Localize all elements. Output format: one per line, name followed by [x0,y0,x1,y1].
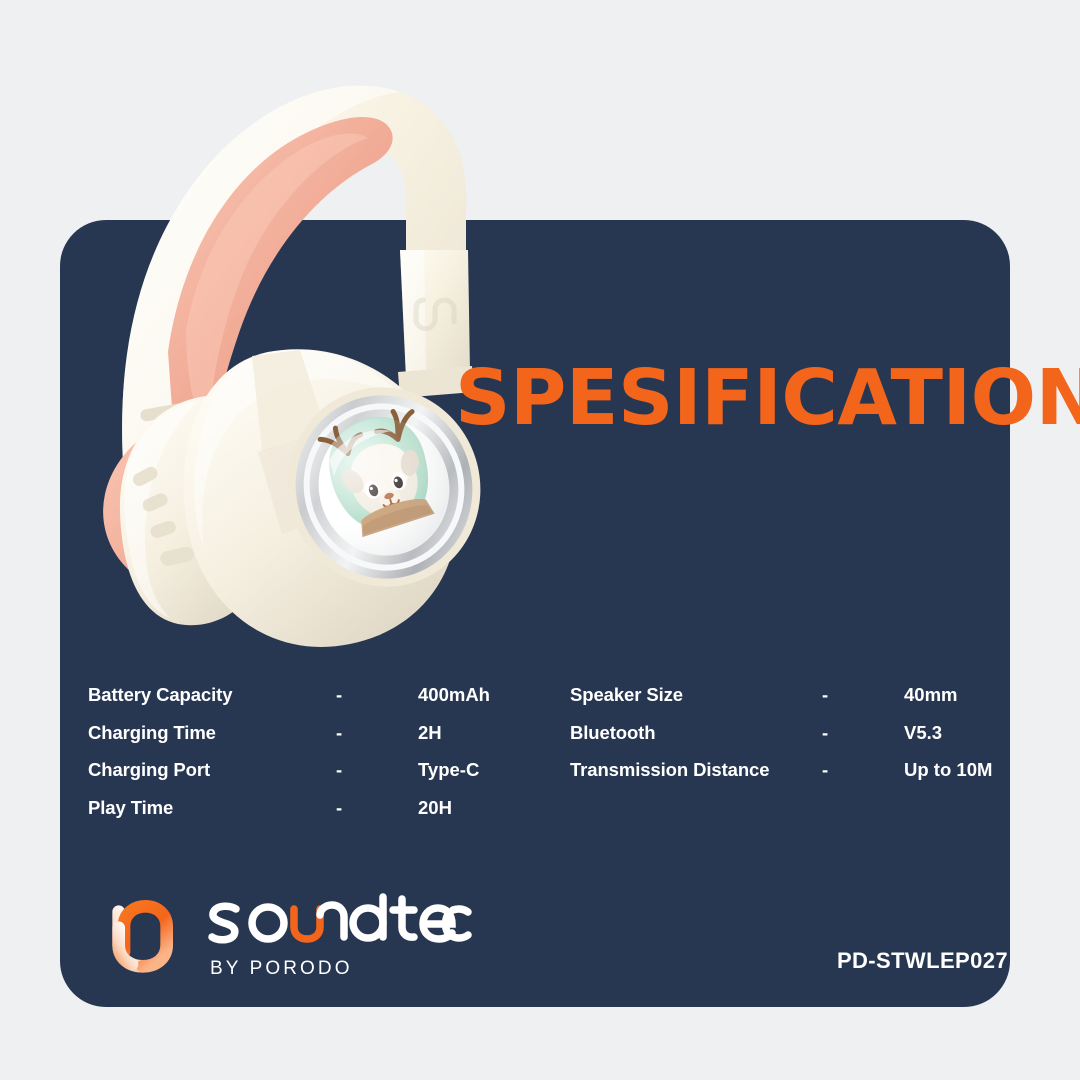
spec-label: Bluetooth [570,722,822,744]
spec-value: Type-C [418,759,479,781]
spec-value: V5.3 [904,722,942,744]
spec-separator: - [336,722,418,744]
brand-wordmark: BY PORODO [206,893,474,980]
spec-separator: - [822,722,904,744]
spec-row: Charging Port - Type-C [88,759,490,797]
spec-row: Transmission Distance - Up to 10M [570,759,992,797]
spec-value: 20H [418,797,452,819]
spec-card [60,220,1010,1007]
spec-value: 400mAh [418,684,490,706]
spec-row: Speaker Size - 40mm [570,684,992,722]
spec-label: Charging Port [88,759,336,781]
spec-label: Speaker Size [570,684,822,706]
model-number: PD-STWLEP027 [837,948,1008,974]
spec-value: 40mm [904,684,957,706]
spec-label: Transmission Distance [570,759,822,781]
spec-row: Play Time - 20H [88,797,490,835]
spec-row: Bluetooth - V5.3 [570,722,992,760]
spec-column-left: Battery Capacity - 400mAh Charging Time … [88,684,490,834]
brand-byline: BY PORODO [210,958,474,980]
spec-separator: - [336,684,418,706]
spec-label: Charging Time [88,722,336,744]
spec-label: Battery Capacity [88,684,336,706]
soundtec-wordmark-icon [206,893,474,949]
spec-value: 2H [418,722,442,744]
brand-logo: BY PORODO [104,893,474,980]
brand-name [206,893,474,949]
spec-value: Up to 10M [904,759,992,781]
spec-column-right: Speaker Size - 40mm Bluetooth - V5.3 Tra… [570,684,992,797]
spec-separator: - [822,684,904,706]
spec-row: Battery Capacity - 400mAh [88,684,490,722]
soundtec-knot-icon [104,897,184,977]
spec-separator: - [822,759,904,781]
spec-row: Charging Time - 2H [88,722,490,760]
spec-label: Play Time [88,797,336,819]
poster-canvas: SPESIFICATIONS Battery Capacity - 400mAh… [0,0,1080,1080]
page-title: SPESIFICATIONS [455,360,1080,437]
spec-separator: - [336,759,418,781]
spec-separator: - [336,797,418,819]
